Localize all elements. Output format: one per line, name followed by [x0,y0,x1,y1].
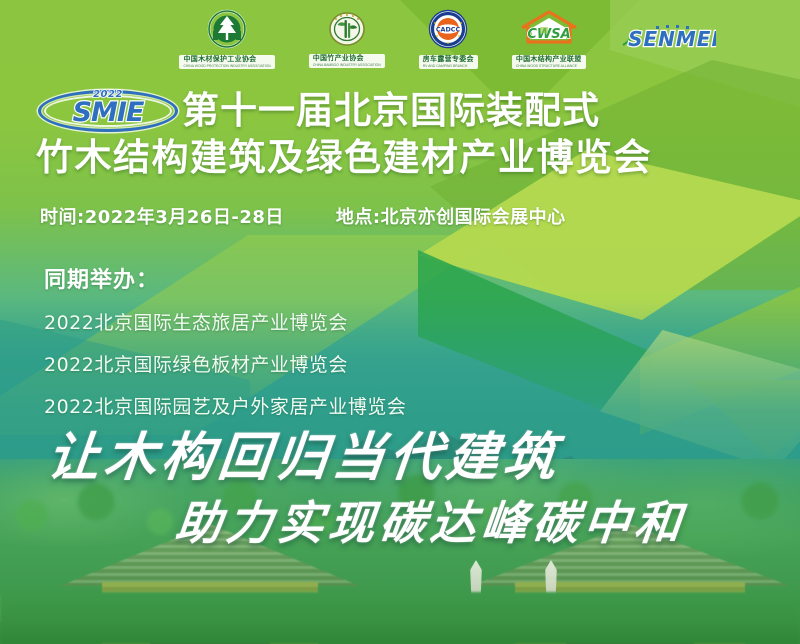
sponsor-logo-3[interactable]: CWSA 中国木结构产业联盟 CHINA WOOD STRUCTURE ALLI… [512,9,586,69]
sponsor-caption-0: 中国木材保护工业协会 CHINA WOOD PROTECTION INDUSTR… [179,55,274,69]
sponsor-subcaption-3: CHINA WOOD STRUCTURE ALLIANCE [516,64,582,68]
svg-text:CWSA: CWSA [527,27,570,42]
smie-logo: 2022 SMIE [38,88,178,134]
exhibition-poster: 中国木材保护工业协会 CHINA WOOD PROTECTION INDUSTR… [0,0,800,644]
svg-text:SENMEI: SENMEI [628,27,716,51]
smie-wordmark: SMIE [38,97,178,128]
foreground-ground [0,592,800,644]
cadcc-round-emblem-icon: CADCC [428,9,468,54]
sponsor-logo-strip: 中国木材保护工业协会 CHINA WOOD PROTECTION INDUSTR… [0,8,800,70]
tree-shield-emblem-icon [207,9,247,54]
page-title-line-1: 第十一届北京国际装配式 [182,90,600,132]
concurrent-event-item: 2022北京国际生态旅居产业博览会 [44,308,406,335]
smie-year: 2022 [38,89,178,100]
page-title-line-2: 竹木结构建筑及绿色建材产业博览会 [0,136,800,180]
concurrent-events-heading: 同期举办： [44,262,406,294]
svg-text:CADCC: CADCC [436,25,461,33]
sponsor-logo-2[interactable]: CADCC 房车露营专委会 RV AND CAMPING BRANCH [419,9,478,69]
sponsor-caption-1: 中国竹产业协会 CHINA BAMBOO INDUSTRY ASSOCIATIO… [309,54,385,68]
slogan-line-2: 助力实现碳达峰碳中和 [173,487,690,553]
sponsor-subcaption-0: CHINA WOOD PROTECTION INDUSTRY ASSOCIATI… [183,64,270,68]
sponsor-caption-2: 房车露营专委会 RV AND CAMPING BRANCH [419,55,478,69]
sponsor-logo-0[interactable]: 中国木材保护工业协会 CHINA WOOD PROTECTION INDUSTR… [179,9,274,69]
sponsor-subcaption-1: CHINA BAMBOO INDUSTRY ASSOCIATION [313,63,381,67]
slogan-line-1: 让木构回归当代建筑 [44,415,565,490]
senmei-leaf-wordmark-icon: SENMEI [620,21,716,58]
cwsa-house-mark-icon: CWSA [518,9,580,54]
concurrent-events-block: 同期举办： 2022北京国际生态旅居产业博览会 2022北京国际绿色板材产业博览… [44,262,406,434]
headline-block: 2022 SMIE 第十一届北京国际装配式 竹木结构建筑及绿色建材产业博览会 [0,88,800,180]
event-date: 时间:2022年3月26日-28日 [40,203,284,229]
event-meta: 时间:2022年3月26日-28日 地点:北京亦创国际会展中心 [40,203,800,229]
event-venue: 地点:北京亦创国际会展中心 [336,203,566,229]
bamboo-oval-emblem-icon [327,10,367,53]
sponsor-logo-1[interactable]: 中国竹产业协会 CHINA BAMBOO INDUSTRY ASSOCIATIO… [309,10,385,68]
concurrent-event-item: 2022北京国际绿色板材产业博览会 [44,350,406,377]
sponsor-caption-3: 中国木结构产业联盟 CHINA WOOD STRUCTURE ALLIANCE [512,55,586,69]
sponsor-logo-4[interactable]: SENMEI [620,21,716,58]
sponsor-subcaption-2: RV AND CAMPING BRANCH [423,64,474,68]
